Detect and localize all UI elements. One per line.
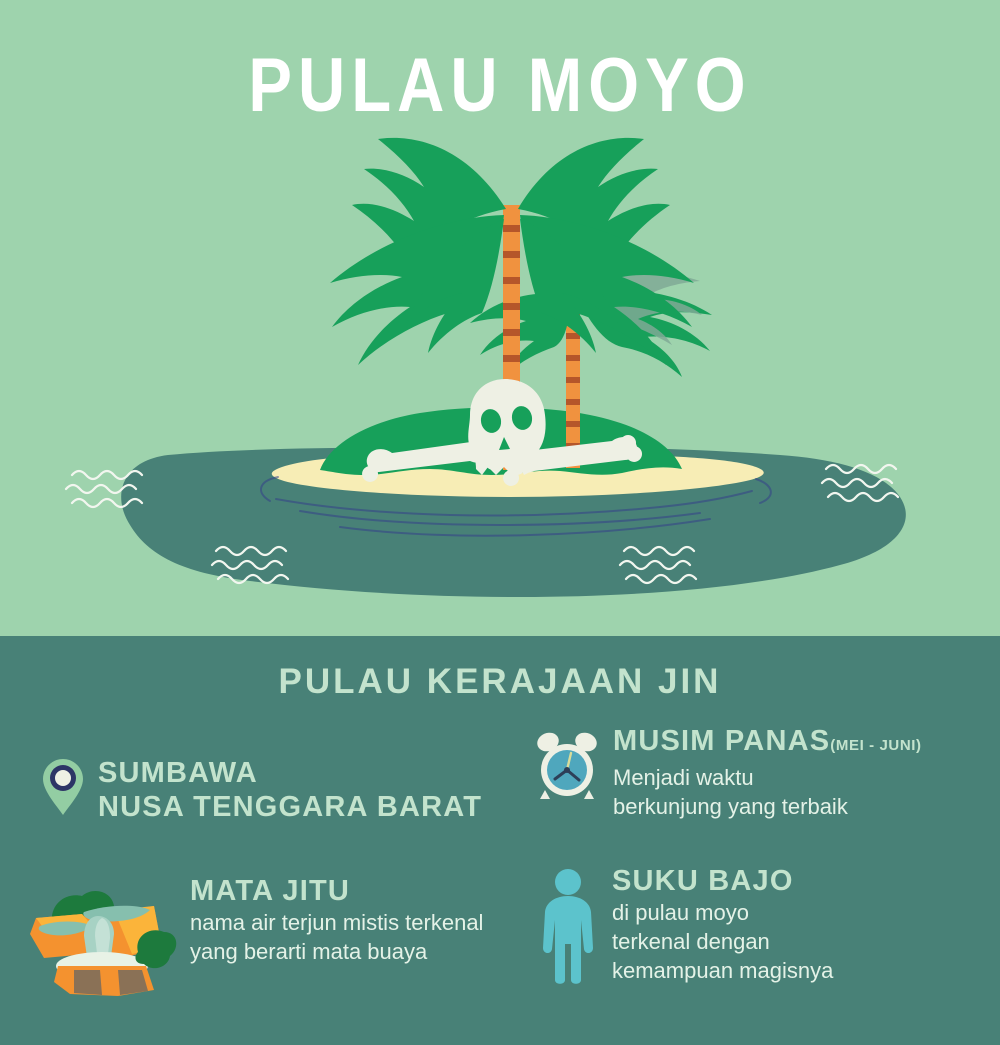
fact-suku-body-line-2: terkenal dengan — [612, 927, 990, 956]
location-pin-icon — [42, 758, 84, 816]
fact-sumbawa: SUMBAWA NUSA TENGGARA BARAT — [42, 756, 502, 824]
waterfall-icon — [22, 878, 180, 996]
page-title: PULAU MOYO — [70, 44, 930, 128]
page-subtitle: PULAU KERAJAAN JIN — [0, 661, 1000, 703]
fact-mata-body-line-1: nama air terjun mistis terkenal — [190, 908, 522, 937]
fact-sumbawa-heading: SUMBAWA — [98, 756, 502, 790]
fact-sumbawa-subheading: NUSA TENGGARA BARAT — [98, 790, 502, 824]
fact-suku-text: SUKU BAJO di pulau moyo terkenal dengan … — [612, 864, 990, 985]
person-body — [543, 896, 593, 984]
fact-mata-heading: MATA JITU — [190, 874, 522, 908]
info-panel: PULAU KERAJAAN JIN SUMBAWA NUSA TENGGARA… — [0, 636, 1000, 1045]
fact-suku-body-line-3: kemampuan magisnya — [612, 956, 990, 985]
hero-panel: PULAU MOYO — [0, 0, 1000, 636]
person-icon — [540, 868, 596, 986]
fact-musim-heading: MUSIM PANAS(MEI - JUNI) — [613, 724, 975, 763]
fact-musim-body-line-1: Menjadi waktu — [613, 763, 975, 792]
fact-suku-bajo: SUKU BAJO di pulau moyo terkenal dengan … — [540, 864, 990, 986]
fact-musim-text: MUSIM PANAS(MEI - JUNI) Menjadi waktu be… — [613, 724, 975, 821]
fact-suku-body-line-1: di pulau moyo — [612, 898, 990, 927]
fact-musim-heading-months: (MEI - JUNI) — [830, 737, 921, 754]
fact-mata-body-line-2: yang berarti mata buaya — [190, 937, 522, 966]
island-illustration — [0, 125, 1000, 625]
fact-musim-heading-main: MUSIM PANAS — [613, 725, 830, 757]
fact-mata-jitu: MATA JITU nama air terjun mistis terkena… — [22, 874, 522, 996]
waterfall-base-rock-dark — [74, 970, 102, 995]
fact-sumbawa-text: SUMBAWA NUSA TENGGARA BARAT — [98, 756, 502, 824]
fact-musim-body-line-2: berkunjung yang terbaik — [613, 792, 975, 821]
fact-musim-panas: MUSIM PANAS(MEI - JUNI) Menjadi waktu be… — [535, 724, 975, 821]
alarm-clock-icon — [535, 730, 599, 800]
person-head — [555, 869, 581, 895]
fact-suku-heading: SUKU BAJO — [612, 864, 990, 898]
fact-mata-text: MATA JITU nama air terjun mistis terkena… — [190, 874, 522, 966]
infographic-poster: PULAU MOYO — [0, 0, 1000, 1045]
